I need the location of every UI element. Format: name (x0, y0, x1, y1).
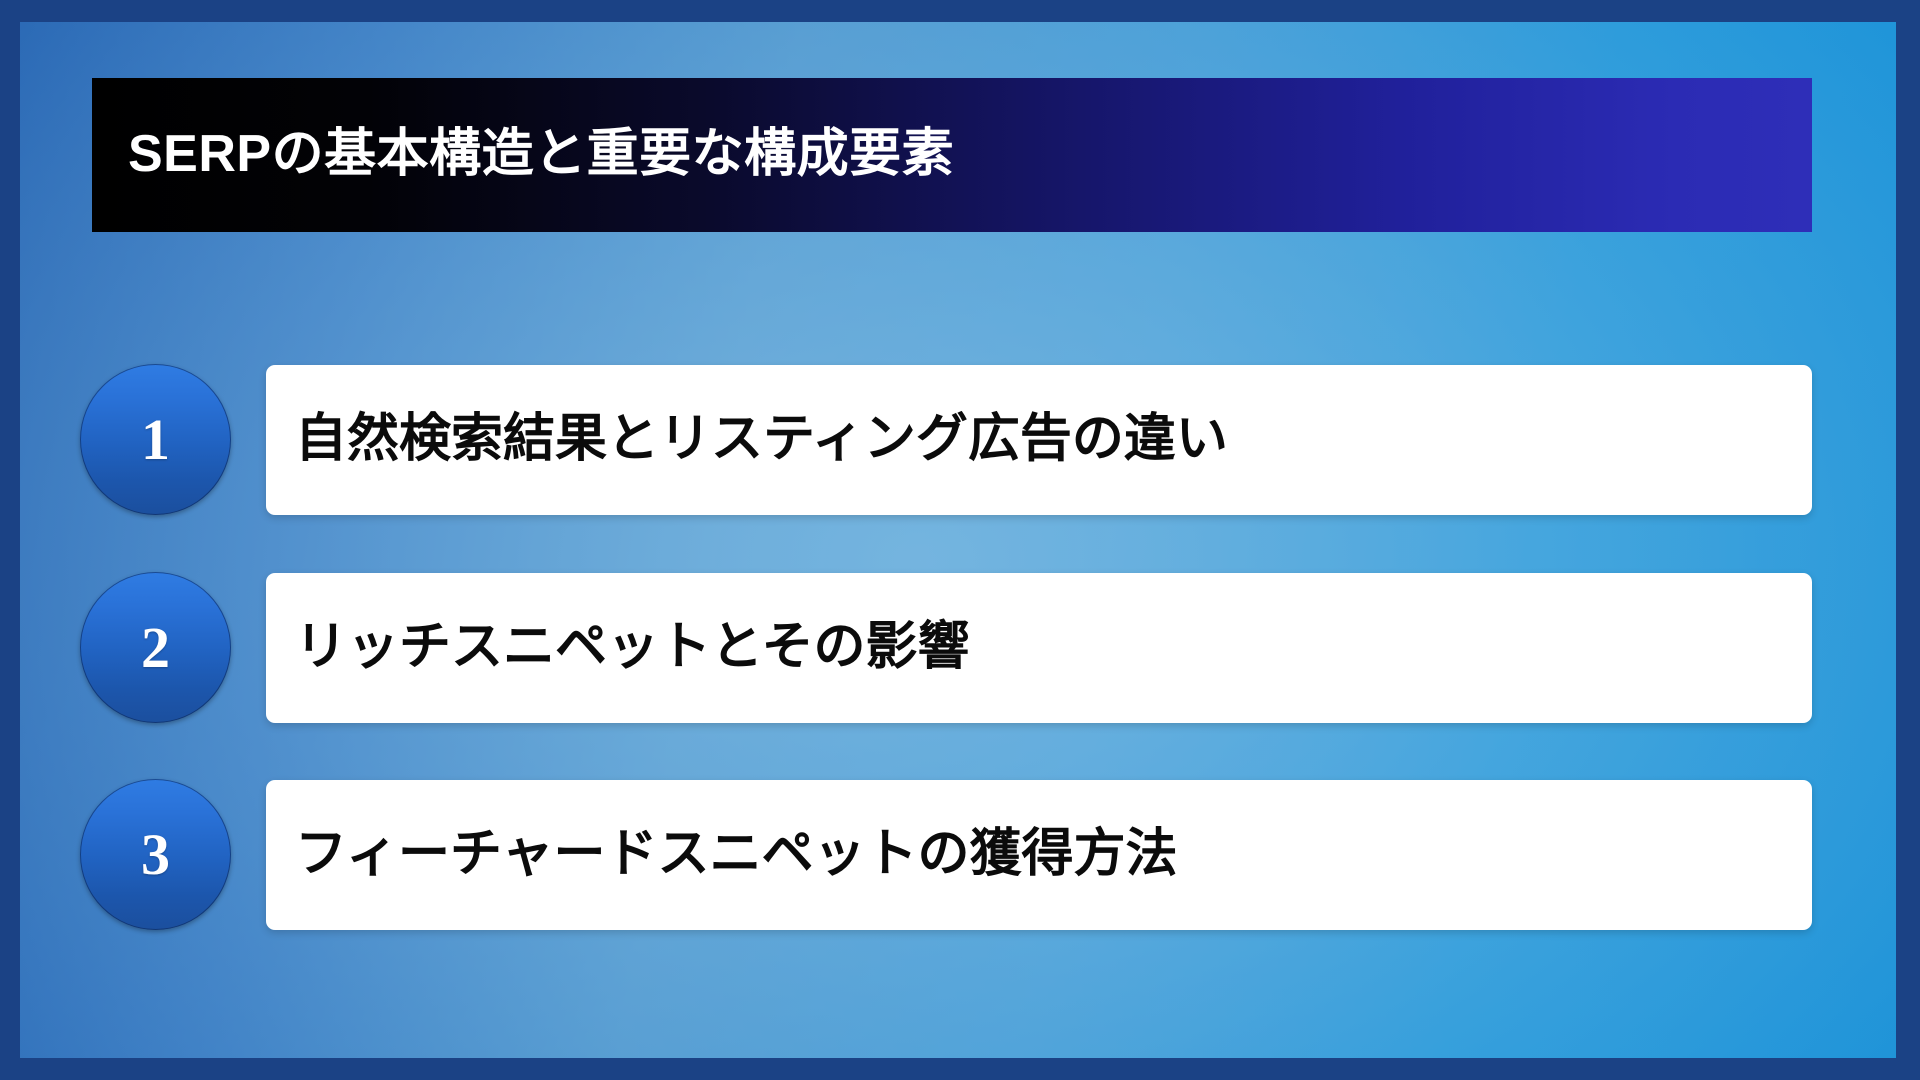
title-banner: SERPの基本構造と重要な構成要素 (92, 78, 1812, 232)
item-title: リッチスニペットとその影響 (295, 619, 969, 676)
list-item[interactable]: 2 リッチスニペットとその影響 (20, 561, 1896, 733)
item-card[interactable]: リッチスニペットとその影響 (266, 573, 1812, 723)
item-number-badge: 1 (80, 364, 231, 515)
item-title: 自然検索結果とリスティング広告の違い (295, 411, 1228, 468)
slide-content-card: SERPの基本構造と重要な構成要素 1 自然検索結果とリスティング広告の違い 2… (20, 22, 1896, 1058)
item-card[interactable]: フィーチャードスニペットの獲得方法 (266, 780, 1812, 930)
list-item[interactable]: 3 フィーチャードスニペットの獲得方法 (20, 768, 1896, 940)
list-item[interactable]: 1 自然検索結果とリスティング広告の違い (20, 353, 1896, 525)
item-number-badge: 2 (80, 572, 231, 723)
item-number-label: 3 (141, 826, 170, 884)
item-title: フィーチャードスニペットの獲得方法 (295, 826, 1177, 883)
item-card[interactable]: 自然検索結果とリスティング広告の違い (266, 365, 1812, 515)
page-title: SERPの基本構造と重要な構成要素 (128, 126, 954, 183)
item-number-label: 1 (141, 411, 170, 469)
slide-root: SERPの基本構造と重要な構成要素 1 自然検索結果とリスティング広告の違い 2… (0, 0, 1920, 1080)
item-number-label: 2 (141, 619, 170, 677)
item-number-badge: 3 (80, 779, 231, 930)
